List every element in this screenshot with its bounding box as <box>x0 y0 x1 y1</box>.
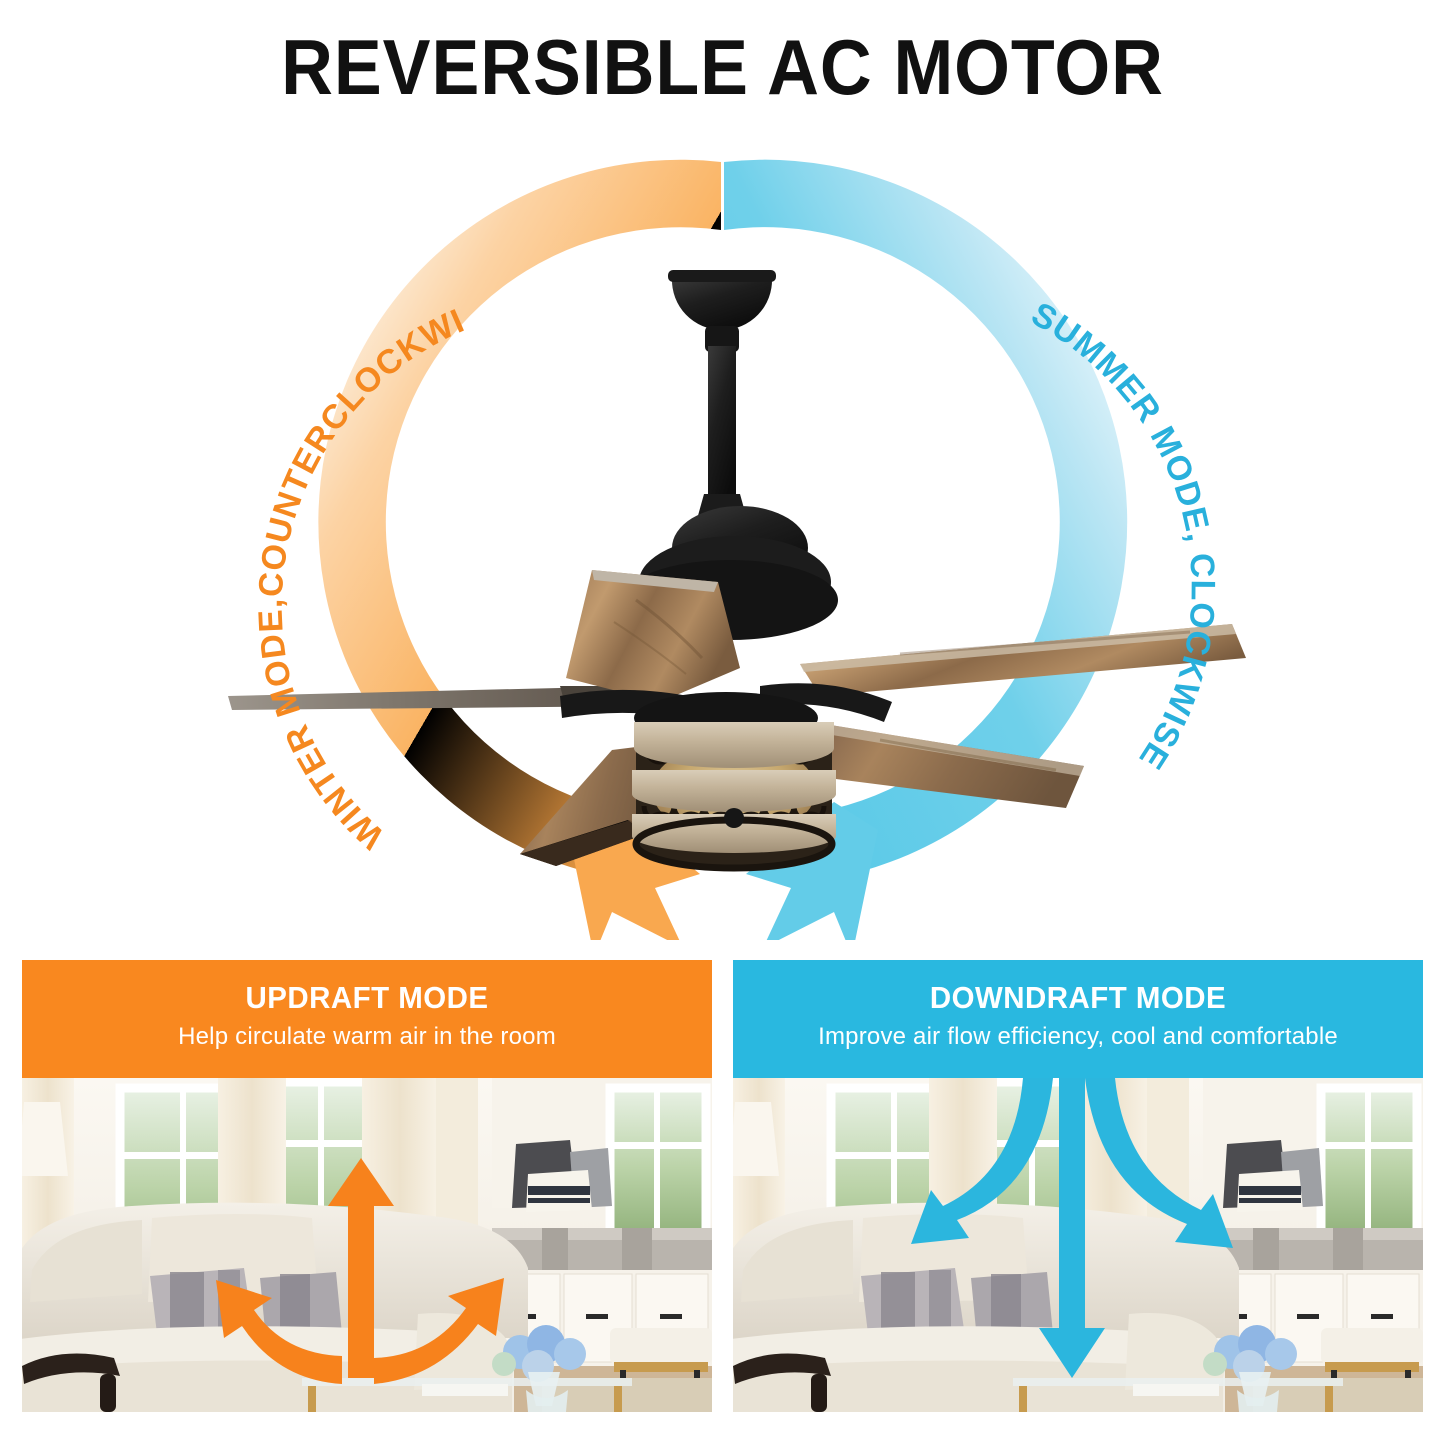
updraft-subtitle: Help circulate warm air in the room <box>22 1018 712 1056</box>
winter-mode-label: WINTER MODE,COUNTERCLOCKWISE <box>0 130 470 856</box>
page-title: REVERSIBLE AC MOTOR <box>58 22 1387 113</box>
updraft-airflow-arrows <box>22 1078 712 1412</box>
downdraft-room-photo <box>733 1078 1423 1412</box>
updraft-room-photo <box>22 1078 712 1412</box>
updraft-title: UPDRAFT MODE <box>39 978 695 1018</box>
downdraft-subtitle: Improve air flow efficiency, cool and co… <box>733 1018 1423 1056</box>
downdraft-airflow-arrows <box>733 1078 1423 1412</box>
panel-downdraft: DOWNDRAFT MODE Improve air flow efficien… <box>733 960 1423 1412</box>
infographic-page: REVERSIBLE AC MOTOR <box>0 0 1445 1445</box>
reversible-motor-diagram: WINTER MODE,COUNTERCLOCKWISE SUMMER MODE… <box>0 130 1445 940</box>
arc-labels: WINTER MODE,COUNTERCLOCKWISE SUMMER MODE… <box>0 130 1445 940</box>
updraft-banner: UPDRAFT MODE Help circulate warm air in … <box>22 960 712 1078</box>
downdraft-title: DOWNDRAFT MODE <box>750 978 1406 1018</box>
summer-mode-label: SUMMER MODE, CLOCKWISE <box>1025 295 1222 776</box>
mode-panels: UPDRAFT MODE Help circulate warm air in … <box>0 960 1445 1445</box>
downdraft-banner: DOWNDRAFT MODE Improve air flow efficien… <box>733 960 1423 1078</box>
panel-updraft: UPDRAFT MODE Help circulate warm air in … <box>22 960 712 1412</box>
